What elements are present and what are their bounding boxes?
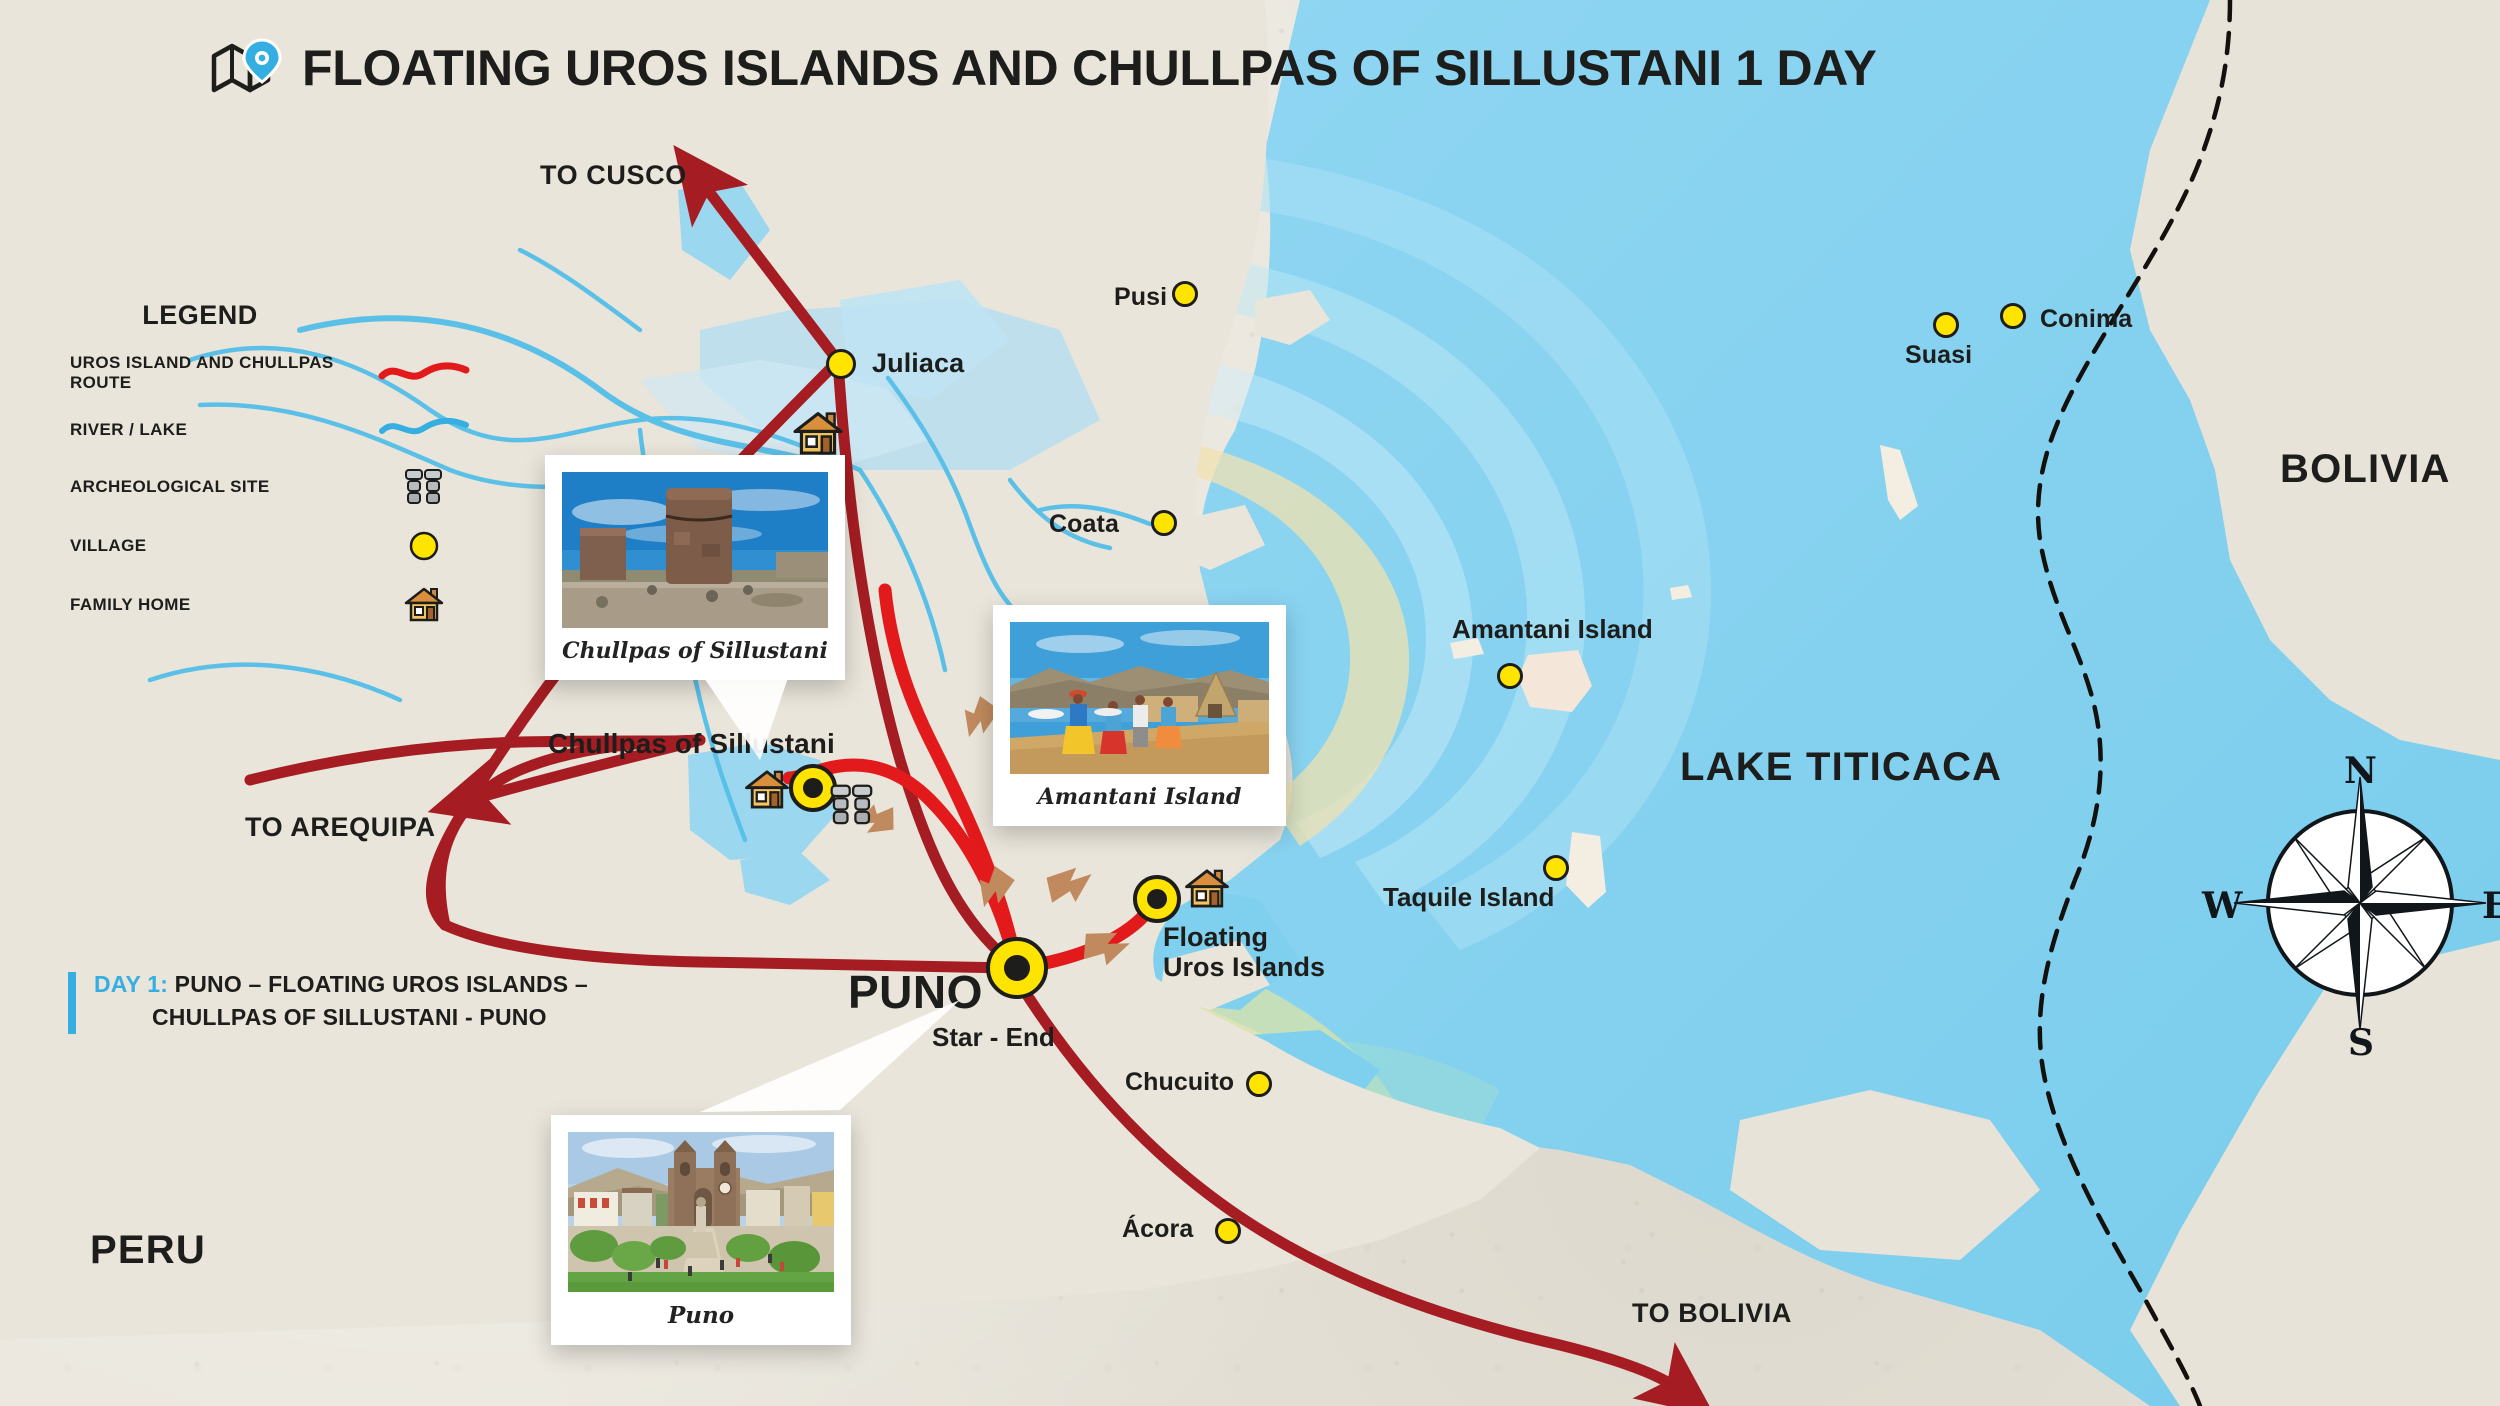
map-canvas: FLOATING UROS ISLANDS AND CHULLPAS OF SI… (0, 0, 2500, 1406)
compass-label-south: S (2348, 1022, 2374, 1064)
compass-label-east: E (2482, 885, 2500, 927)
compass-rose (0, 0, 2500, 1406)
compass-label-north: N (2344, 750, 2377, 792)
compass-label-west: W (2202, 885, 2242, 927)
